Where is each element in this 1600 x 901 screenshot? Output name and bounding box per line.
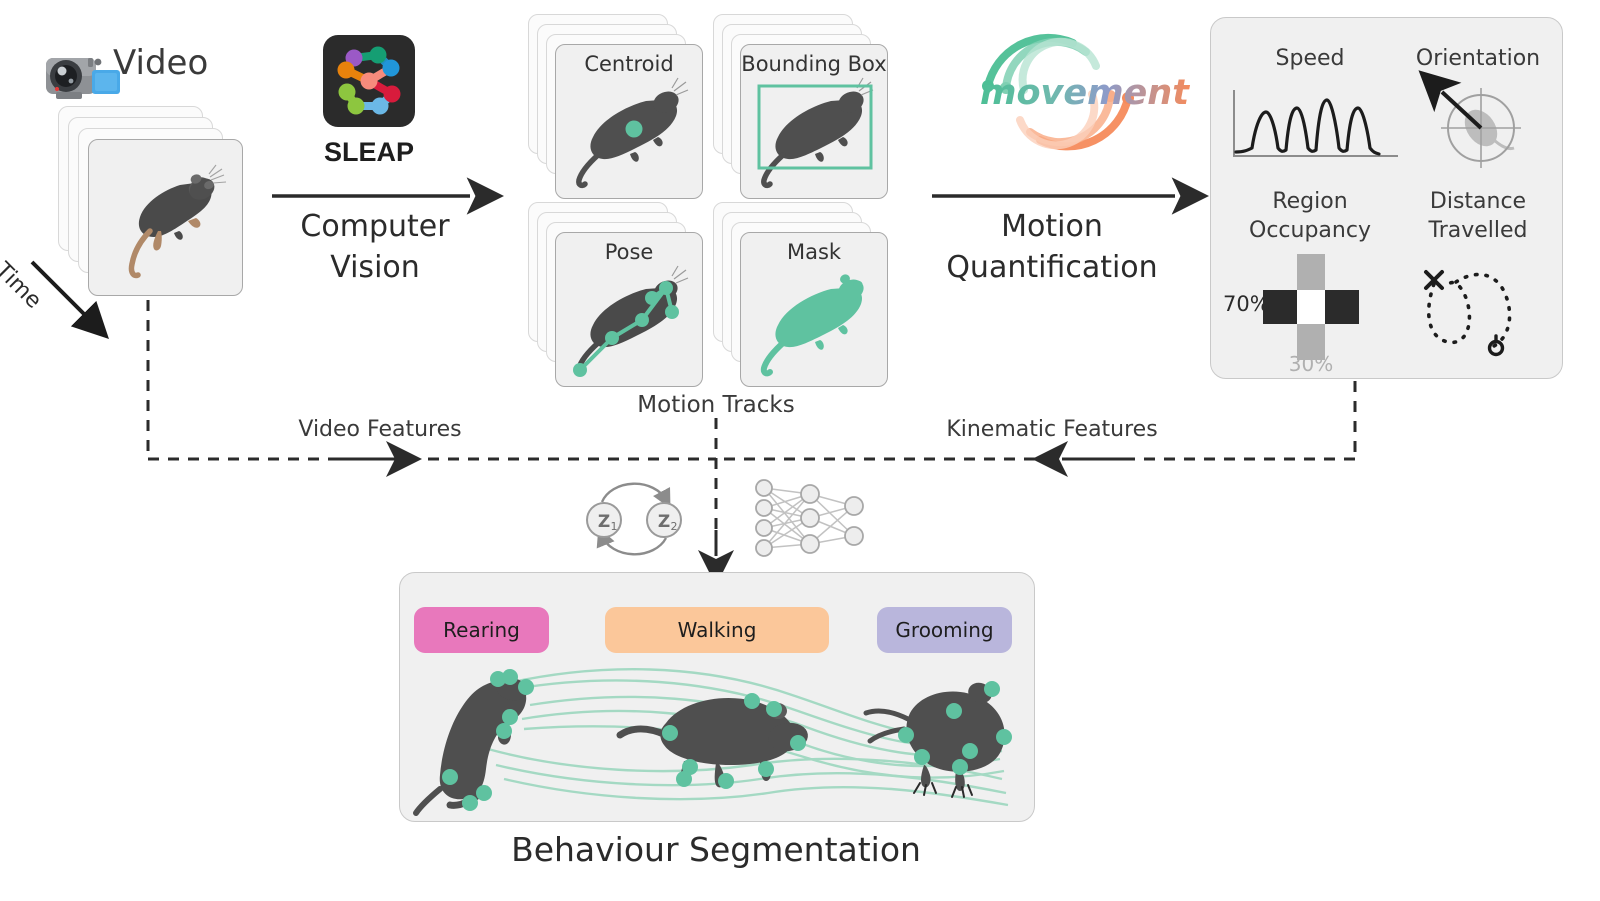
svg-text:Z: Z — [658, 512, 670, 532]
behaviour-class-grooming[interactable]: Grooming — [877, 607, 1012, 653]
video-features-label: Video Features — [298, 417, 461, 442]
behaviour-segmentation-panel: Rearing Walking Grooming — [399, 572, 1035, 822]
behaviour-segmentation-caption: Behaviour Segmentation — [511, 830, 921, 869]
latent-state-cycle-icon: Z 1 Z 2 — [578, 478, 690, 560]
neural-network-icon — [748, 478, 872, 560]
behaviour-pose-grooming — [852, 673, 1024, 799]
svg-text:1: 1 — [611, 520, 618, 533]
behaviour-class-walking-label: Walking — [678, 618, 757, 642]
behaviour-class-walking[interactable]: Walking — [605, 607, 829, 653]
behaviour-class-grooming-label: Grooming — [895, 618, 993, 642]
figure-canvas: Video — [0, 0, 1600, 901]
behaviour-pose-walking — [618, 683, 818, 799]
behaviour-pose-rearing — [412, 665, 602, 817]
kinematic-features-label: Kinematic Features — [946, 417, 1157, 442]
behaviour-class-rearing[interactable]: Rearing — [414, 607, 549, 653]
behaviour-class-rearing-label: Rearing — [443, 618, 520, 642]
svg-text:Z: Z — [598, 512, 610, 532]
svg-text:2: 2 — [671, 520, 678, 533]
